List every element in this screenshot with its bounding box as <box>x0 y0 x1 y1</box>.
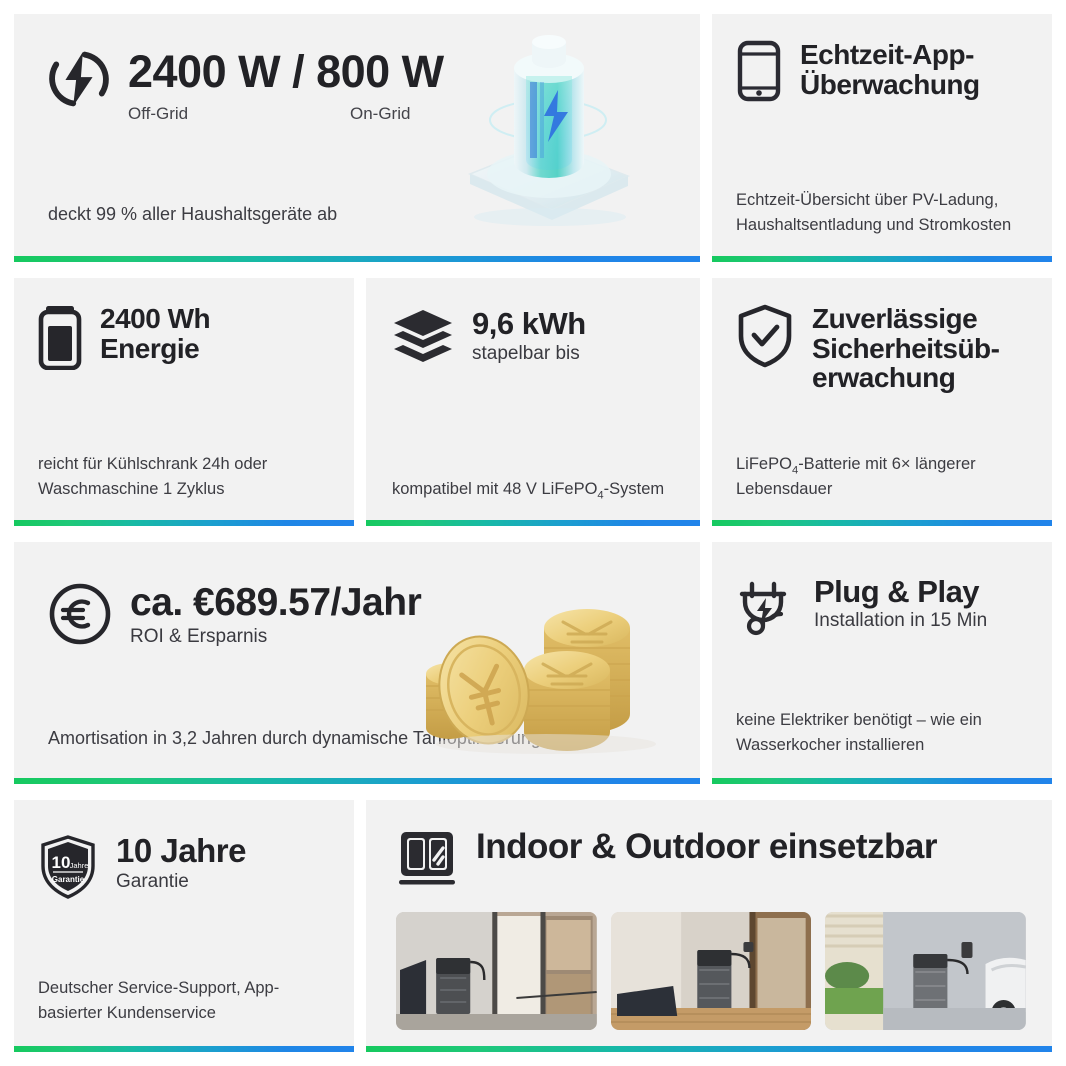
roi-headline: ca. €689.57/Jahr <box>130 582 421 623</box>
warranty-headline: 10 Jahre <box>116 834 246 869</box>
plug-description: keine Elektriker benötigt – wie ein Wass… <box>736 708 1032 758</box>
plug-bolt-icon <box>736 576 796 638</box>
stack-desc-before: kompatibel mit 48 V LiFePO <box>392 480 597 498</box>
card-roi-savings: ca. €689.57/Jahr ROI & Ersparnis Amortis… <box>14 542 700 784</box>
battery-icon <box>38 304 82 370</box>
indoor-hallway-stacked-battery-photo <box>611 912 812 1030</box>
stack-desc-after: -System <box>604 480 665 498</box>
garage-battery-with-car-photo <box>825 912 1026 1030</box>
energy-description: reicht für Kühlschrank 24h oder Waschmas… <box>38 452 334 502</box>
shield-check-icon <box>736 304 794 368</box>
card-plug-and-play: Plug & Play Installation in 15 Min keine… <box>712 542 1052 784</box>
layers-stack-icon <box>392 308 454 364</box>
stack-description: kompatibel mit 48 V LiFePO4-System <box>392 477 680 502</box>
safety-headline: Zuverlässige Sicherheitsüb-erwachung <box>812 304 1032 393</box>
stack-subline: stapelbar bis <box>472 343 586 365</box>
plug-headline: Plug & Play <box>814 576 987 609</box>
power-sublabels: Off-Grid On-Grid <box>128 104 444 124</box>
card-warranty: 10 Jahre Garantie 10 Jahre Garantie Deut… <box>14 800 354 1052</box>
warranty-subline: Garantie <box>116 871 246 893</box>
card-accent-bar <box>712 256 1052 262</box>
warranty-badge-years: Jahre <box>70 861 89 870</box>
card-accent-bar <box>14 520 354 526</box>
card-energy-capacity: 2400 Wh Energie reicht für Kühlschrank 2… <box>14 278 354 526</box>
warranty-badge-label: Garantie <box>52 875 85 884</box>
app-headline: Echtzeit-App-Überwachung <box>800 40 1030 99</box>
smartphone-icon <box>736 40 782 102</box>
card-accent-bar <box>712 778 1052 784</box>
card-accent-bar <box>14 1046 354 1052</box>
warranty-badge-number: 10 <box>52 853 71 872</box>
warranty-description: Deutscher Service-Support, App-basierter… <box>38 976 334 1026</box>
energy-headline-value: 2400 Wh <box>100 303 210 334</box>
plug-subline: Installation in 15 Min <box>814 610 987 632</box>
safety-desc-before: LiFePO <box>736 455 792 473</box>
energy-headline-label: Energie <box>100 333 199 364</box>
euro-circle-icon <box>48 582 112 646</box>
card-stackable-capacity: 9,6 kWh stapelbar bis kompatibel mit 48 … <box>366 278 700 526</box>
roi-subline: ROI & Ersparnis <box>130 626 421 648</box>
card-indoor-outdoor: Indoor & Outdoor einsetzbar <box>366 800 1052 1052</box>
feature-grid: 2400 W / 800 W Off-Grid On-Grid deckt 99… <box>0 0 1066 1066</box>
card-accent-bar <box>366 520 700 526</box>
warranty-shield-icon: 10 Jahre Garantie <box>38 834 98 900</box>
power-headline: 2400 W / 800 W <box>128 48 444 96</box>
power-offgrid-label: Off-Grid <box>128 104 350 124</box>
placement-headline: Indoor & Outdoor einsetzbar <box>476 828 937 865</box>
roi-description: Amortisation in 3,2 Jahren durch dynamis… <box>48 725 670 752</box>
window-door-icon <box>396 828 458 890</box>
card-accent-bar <box>14 778 700 784</box>
card-accent-bar <box>14 256 700 262</box>
power-ongrid-label: On-Grid <box>350 104 410 124</box>
card-app-monitoring: Echtzeit-App-Überwachung Echtzeit-Übersi… <box>712 14 1052 262</box>
safety-description: LiFePO4-Batterie mit 6× längerer Lebensd… <box>736 452 1032 502</box>
balcony-wall-mounted-battery-photo <box>396 912 597 1030</box>
stack-headline: 9,6 kWh <box>472 308 586 341</box>
app-description: Echtzeit-Übersicht über PV-Ladung, Haush… <box>736 188 1030 238</box>
card-accent-bar <box>712 520 1052 526</box>
card-safety-monitoring: Zuverlässige Sicherheitsüb-erwachung LiF… <box>712 278 1052 526</box>
placement-photo-row <box>396 912 1026 1030</box>
card-power-output: 2400 W / 800 W Off-Grid On-Grid deckt 99… <box>14 14 700 262</box>
power-description: deckt 99 % aller Haushaltsgeräte ab <box>48 201 670 228</box>
power-bolt-circle-icon <box>48 48 110 110</box>
card-accent-bar <box>366 1046 1052 1052</box>
